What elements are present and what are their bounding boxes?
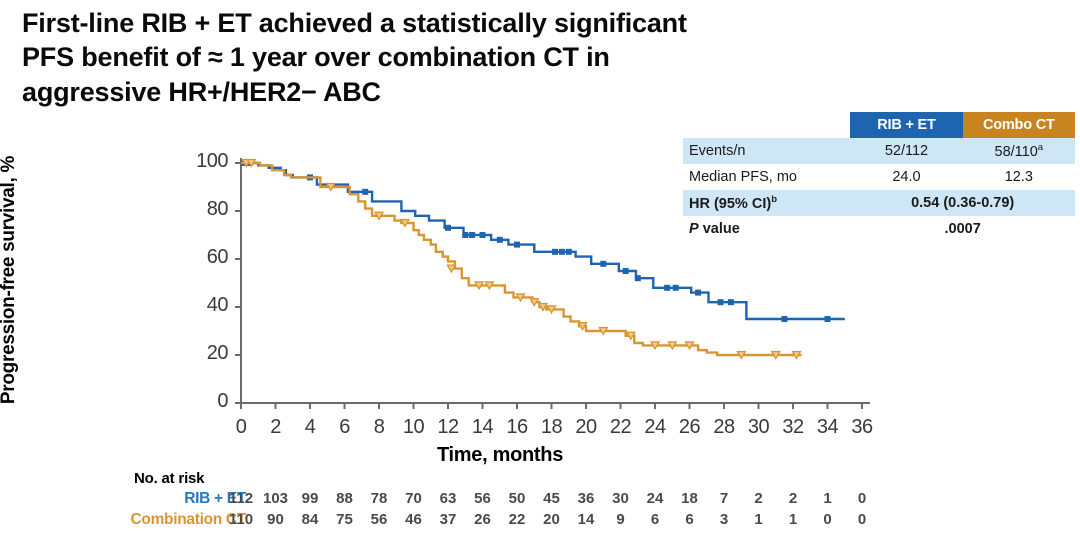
risk-value: 22: [501, 511, 533, 528]
risk-value: 6: [674, 511, 706, 528]
risk-value: 1: [812, 490, 844, 507]
risk-row-label: RIB + ET: [96, 490, 246, 508]
risk-row-rib-et: RIB + ET11210399887870635650453630241872…: [96, 490, 896, 510]
censor-mark-rib-et: [695, 290, 701, 296]
x-tick-36: 36: [842, 416, 882, 439]
censor-mark-combo-ct: [599, 328, 607, 335]
risk-value: 1: [743, 511, 775, 528]
censor-mark-combo-ct: [579, 323, 587, 330]
censor-mark-combo-ct: [627, 332, 635, 339]
censor-mark-combo-ct: [327, 184, 335, 191]
censor-mark-rib-et: [825, 316, 831, 322]
risk-row-label: Combination CT: [96, 511, 246, 529]
y-tick-100: 100: [170, 150, 228, 173]
censor-mark-rib-et: [497, 237, 503, 243]
risk-value: 75: [329, 511, 361, 528]
censor-mark-combo-ct: [651, 342, 659, 349]
y-tick-0: 0: [170, 390, 228, 413]
risk-value: 46: [398, 511, 430, 528]
censor-mark-combo-ct: [401, 220, 409, 227]
censor-mark-combo-ct: [530, 299, 538, 306]
stats-row: Events/n52/11258/110a: [683, 138, 1075, 164]
risk-value: 37: [432, 511, 464, 528]
risk-value: 90: [260, 511, 292, 528]
x-axis-label: Time, months: [340, 444, 660, 467]
stats-row-label: P value: [683, 216, 850, 242]
risk-value: 14: [570, 511, 602, 528]
censor-mark-rib-et: [566, 249, 572, 255]
censor-mark-rib-et: [469, 232, 475, 238]
censor-mark-combo-ct: [242, 160, 250, 167]
stats-row-label: HR (95% CI)b: [683, 190, 850, 216]
stats-row-value-combo-ct: 12.3: [963, 164, 1075, 190]
y-axis-label: Progression-free survival, %: [0, 150, 20, 410]
stats-row: P value.0007: [683, 216, 1075, 242]
censor-mark-rib-et: [600, 261, 606, 267]
censor-mark-rib-et: [307, 174, 313, 180]
risk-value: 0: [812, 511, 844, 528]
censor-mark-rib-et: [445, 225, 451, 231]
stats-row-value-rib-et: 52/112: [850, 138, 962, 164]
risk-value: 112: [225, 490, 257, 507]
censor-mark-combo-ct: [517, 294, 525, 301]
risk-value: 20: [536, 511, 568, 528]
risk-value: 56: [467, 490, 499, 507]
stats-row-label: Median PFS, mo: [683, 164, 850, 190]
km-plot: Progression-free survival, % 02040608010…: [0, 0, 1080, 543]
risk-value: 7: [708, 490, 740, 507]
y-tick-20: 20: [170, 342, 228, 365]
risk-value: 18: [674, 490, 706, 507]
stats-row-label: Events/n: [683, 138, 850, 164]
censor-mark-rib-et: [462, 232, 468, 238]
risk-value: 6: [639, 511, 671, 528]
risk-value: 63: [432, 490, 464, 507]
censor-mark-rib-et: [664, 285, 670, 291]
stats-row: HR (95% CI)b0.54 (0.36-0.79): [683, 190, 1075, 216]
censor-mark-combo-ct: [668, 342, 676, 349]
censor-mark-rib-et: [247, 160, 253, 166]
risk-value: 2: [743, 490, 775, 507]
risk-value: 0: [846, 490, 878, 507]
stats-row-value-merged: 0.54 (0.36-0.79): [850, 190, 1075, 216]
censor-mark-rib-et: [728, 299, 734, 305]
stats-header-combo-ct: Combo CT: [963, 112, 1075, 138]
risk-value: 9: [605, 511, 637, 528]
censor-mark-rib-et: [673, 285, 679, 291]
censor-mark-rib-et: [362, 189, 368, 195]
stats-table: RIB + ETCombo CTEvents/n52/11258/110aMed…: [683, 112, 1075, 242]
censor-mark-combo-ct: [539, 304, 547, 311]
censor-mark-combo-ct: [247, 160, 255, 167]
risk-value: 99: [294, 490, 326, 507]
risk-value: 50: [501, 490, 533, 507]
risk-value: 70: [398, 490, 430, 507]
risk-value: 0: [846, 511, 878, 528]
risk-row-combination-ct: Combination CT11090847556463726222014966…: [96, 511, 896, 531]
risk-value: 88: [329, 490, 361, 507]
risk-value: 78: [363, 490, 395, 507]
stats-header-row: RIB + ETCombo CT: [683, 112, 1075, 138]
censor-mark-rib-et: [480, 232, 486, 238]
stats-row: Median PFS, mo24.012.3: [683, 164, 1075, 190]
no-at-risk-title: No. at risk: [134, 470, 204, 487]
stats-row-value-merged: .0007: [850, 216, 1075, 242]
risk-value: 84: [294, 511, 326, 528]
censor-mark-rib-et: [781, 316, 787, 322]
stats-header-blank: [683, 112, 850, 138]
y-tick-40: 40: [170, 294, 228, 317]
censor-mark-combo-ct: [475, 282, 483, 289]
censor-mark-combo-ct: [793, 352, 801, 359]
censor-mark-combo-ct: [737, 352, 745, 359]
risk-value: 110: [225, 511, 257, 528]
censor-mark-combo-ct: [447, 265, 455, 272]
risk-value: 45: [536, 490, 568, 507]
censor-mark-rib-et: [241, 160, 247, 166]
risk-value: 36: [570, 490, 602, 507]
stats-row-value-rib-et: 24.0: [850, 164, 962, 190]
risk-value: 30: [605, 490, 637, 507]
risk-value: 1: [777, 511, 809, 528]
risk-value: 26: [467, 511, 499, 528]
risk-value: 2: [777, 490, 809, 507]
stats-table-grid: RIB + ETCombo CTEvents/n52/11258/110aMed…: [683, 112, 1075, 242]
censor-mark-rib-et: [514, 242, 520, 248]
censor-mark-combo-ct: [375, 212, 383, 219]
censor-mark-rib-et: [559, 249, 565, 255]
censor-mark-rib-et: [623, 268, 629, 274]
censor-mark-combo-ct: [485, 282, 493, 289]
censor-mark-rib-et: [718, 299, 724, 305]
y-tick-60: 60: [170, 246, 228, 269]
censor-mark-combo-ct: [772, 352, 780, 359]
y-tick-80: 80: [170, 198, 228, 221]
risk-value: 56: [363, 511, 395, 528]
risk-value: 24: [639, 490, 671, 507]
risk-value: 3: [708, 511, 740, 528]
risk-value: 103: [260, 490, 292, 507]
stats-row-value-combo-ct: 58/110a: [963, 138, 1075, 164]
censor-mark-rib-et: [635, 275, 641, 281]
censor-mark-combo-ct: [686, 342, 694, 349]
censor-mark-rib-et: [552, 249, 558, 255]
stats-header-rib-et: RIB + ET: [850, 112, 962, 138]
censor-mark-combo-ct: [548, 306, 556, 313]
